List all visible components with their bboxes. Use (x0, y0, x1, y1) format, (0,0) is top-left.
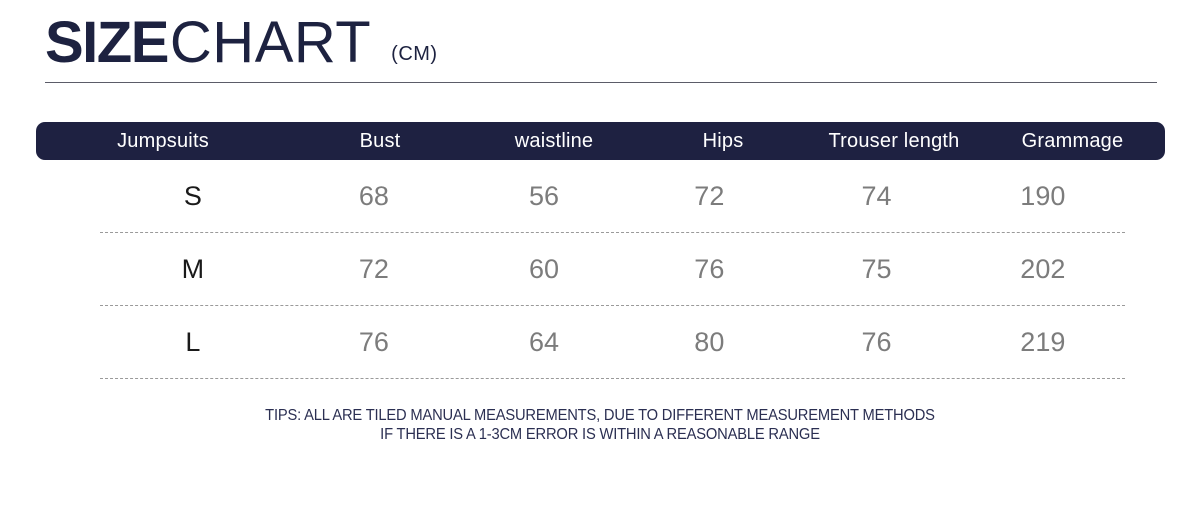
title-chart-word: CHART (170, 14, 371, 72)
table-row: M 72 60 76 75 202 (100, 233, 1125, 306)
cell-trouser-length: 74 (792, 181, 960, 212)
column-header-trouser-length: Trouser length (808, 130, 980, 153)
cell-waistline: 64 (462, 327, 626, 358)
cell-grammage: 202 (961, 254, 1125, 285)
cell-grammage: 190 (961, 181, 1125, 212)
cell-size: L (100, 327, 286, 358)
cell-waistline: 56 (462, 181, 626, 212)
title-unit-label: (CM) (391, 44, 437, 64)
table-header-row: Jumpsuits Bust waistline Hips Trouser le… (36, 122, 1165, 160)
tips-note: TIPS: ALL ARE TILED MANUAL MEASUREMENTS,… (0, 406, 1200, 444)
cell-bust: 72 (286, 254, 462, 285)
cell-waistline: 60 (462, 254, 626, 285)
tips-line-2: IF THERE IS A 1-3CM ERROR IS WITHIN A RE… (48, 425, 1152, 444)
size-chart-table: Jumpsuits Bust waistline Hips Trouser le… (36, 122, 1165, 379)
cell-trouser-length: 75 (792, 254, 960, 285)
column-header-jumpsuits: Jumpsuits (36, 130, 290, 153)
cell-bust: 76 (286, 327, 462, 358)
cell-hips: 76 (626, 254, 792, 285)
cell-trouser-length: 76 (792, 327, 960, 358)
cell-size: S (100, 181, 286, 212)
page-title: SIZE CHART (CM) (45, 14, 438, 72)
cell-hips: 72 (626, 181, 792, 212)
column-header-grammage: Grammage (980, 130, 1165, 153)
cell-bust: 68 (286, 181, 462, 212)
column-header-hips: Hips (638, 130, 808, 153)
title-divider (45, 82, 1157, 83)
cell-grammage: 219 (961, 327, 1125, 358)
title-size-word: SIZE (45, 14, 168, 72)
table-row: S 68 56 72 74 190 (100, 160, 1125, 233)
tips-line-1: TIPS: ALL ARE TILED MANUAL MEASUREMENTS,… (48, 406, 1152, 425)
cell-size: M (100, 254, 286, 285)
column-header-waistline: waistline (470, 130, 638, 153)
column-header-bust: Bust (290, 130, 470, 153)
cell-hips: 80 (626, 327, 792, 358)
table-row: L 76 64 80 76 219 (100, 306, 1125, 379)
size-chart-page: SIZE CHART (CM) Jumpsuits Bust waistline… (0, 0, 1200, 521)
